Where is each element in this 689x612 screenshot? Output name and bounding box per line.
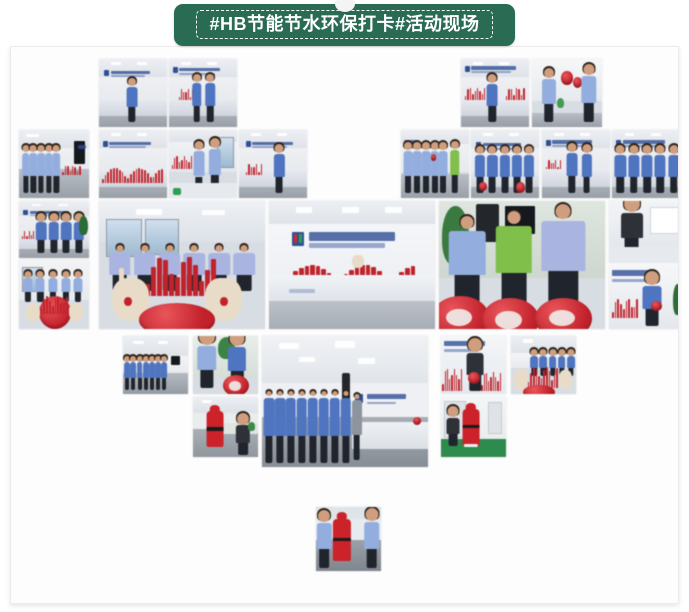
person-figure [30, 152, 38, 193]
photo-content [99, 59, 167, 127]
photo-content [169, 130, 237, 198]
person-figure [500, 154, 510, 192]
gallery-photo[interactable] [169, 59, 237, 127]
person-figure [668, 154, 679, 192]
photo-content [441, 336, 506, 394]
photo-content [99, 201, 265, 329]
person-figure [275, 396, 286, 462]
gallery-photo[interactable] [401, 130, 469, 198]
person-figure [364, 521, 380, 567]
gallery-photo[interactable] [609, 266, 679, 329]
photo-content [609, 201, 679, 263]
person-figure [74, 278, 83, 301]
person-figure [487, 83, 498, 121]
person-figure [329, 396, 340, 462]
gallery-photo[interactable] [193, 336, 258, 394]
photo-content [542, 130, 610, 198]
gallery-photo[interactable] [532, 59, 602, 127]
photo-content [609, 266, 679, 329]
person-figure [36, 222, 47, 253]
red-cup-pyramid [40, 296, 68, 314]
person-figure [274, 153, 284, 192]
title-banner-container: #HB节能节水环保打卡#活动现场 [0, 0, 689, 48]
gallery-photo[interactable] [612, 130, 679, 198]
red-cup-pyramid [246, 164, 262, 175]
person-figure [53, 152, 61, 193]
gallery-photo[interactable] [542, 130, 610, 198]
person-figure [45, 152, 53, 193]
person-figure [317, 522, 331, 567]
red-cup-pyramid [62, 165, 80, 175]
person-figure [149, 362, 155, 390]
person-figure [404, 150, 413, 192]
red-cup-pyramid [506, 88, 525, 100]
photo-content [441, 397, 506, 457]
person-figure [137, 362, 143, 390]
page-title: #HB节能节水环保打卡#活动现场 [209, 14, 479, 34]
person-figure [655, 154, 666, 192]
gallery-card [10, 46, 679, 604]
person-figure [446, 417, 459, 445]
gallery-photo[interactable] [99, 59, 167, 127]
red-cup-pyramid [546, 160, 561, 170]
gallery-photo[interactable] [239, 130, 307, 198]
photo-content [19, 260, 89, 329]
gallery-photo[interactable] [123, 336, 188, 394]
photo-content [511, 336, 576, 394]
person-figure [126, 86, 137, 121]
person-figure [566, 152, 577, 193]
person-figure [124, 362, 130, 390]
photo-content [19, 130, 89, 198]
person-figure [450, 149, 460, 193]
gallery-photo[interactable] [461, 59, 529, 127]
red-cup-pyramid [102, 168, 163, 183]
photo-content [19, 201, 89, 258]
person-figure [130, 362, 136, 390]
person-figure [48, 222, 59, 253]
person-figure [264, 396, 275, 462]
person-figure [155, 362, 161, 390]
screenshot-root: #HB节能节水环保打卡#活动现场 [0, 0, 689, 612]
red-cup-pyramid [442, 369, 462, 391]
gallery-photo[interactable] [262, 336, 428, 467]
gallery-photo[interactable] [99, 130, 167, 198]
event-photo-collage [11, 47, 678, 603]
person-figure [192, 82, 202, 121]
person-figure [286, 396, 297, 462]
title-banner: #HB节能节水环保打卡#活动现场 [174, 4, 514, 46]
person-figure [22, 152, 30, 193]
person-figure [318, 396, 329, 462]
person-figure [352, 399, 362, 459]
person-figure [495, 224, 532, 306]
gallery-photo[interactable] [441, 336, 506, 394]
photo-content [401, 130, 469, 198]
red-cup-pyramid [481, 372, 501, 391]
person-figure [206, 82, 216, 121]
person-figure [487, 154, 497, 192]
photo-content [439, 201, 605, 329]
person-figure [413, 150, 422, 192]
photo-content [239, 130, 307, 198]
gallery-photo[interactable] [471, 130, 539, 198]
person-figure [421, 150, 430, 192]
gallery-photo[interactable] [99, 201, 265, 329]
title-banner-inner-border: #HB节能节水环保打卡#活动现场 [196, 10, 492, 39]
person-figure [449, 229, 486, 306]
person-figure [307, 396, 318, 462]
red-cup-pyramid [612, 299, 638, 318]
gallery-photo[interactable] [439, 201, 605, 329]
gallery-photo[interactable] [193, 397, 258, 457]
person-figure [161, 362, 167, 390]
person-figure [542, 219, 585, 306]
person-figure [581, 153, 591, 192]
red-cup-pyramid [172, 156, 192, 170]
photo-content [123, 336, 188, 394]
photo-content [316, 507, 381, 571]
person-figure [340, 396, 351, 462]
gallery-photo[interactable] [316, 507, 381, 571]
person-figure [615, 154, 626, 192]
person-figure [581, 75, 596, 121]
photo-content [99, 130, 167, 198]
photo-content [612, 130, 679, 198]
gallery-photo[interactable] [609, 201, 679, 263]
red-cup-pyramid [465, 88, 485, 100]
gallery-photo[interactable] [269, 201, 435, 329]
red-cup-pyramid [22, 231, 35, 239]
person-figure [439, 150, 448, 192]
gallery-photo[interactable] [169, 130, 237, 198]
photo-content [461, 59, 529, 127]
photo-content [471, 130, 539, 198]
person-figure [542, 78, 556, 122]
person-figure [23, 278, 32, 301]
person-figure [61, 222, 72, 253]
person-figure [37, 152, 45, 193]
gallery-photo[interactable] [511, 336, 576, 394]
person-figure [628, 154, 639, 192]
gallery-photo[interactable] [441, 397, 506, 457]
person-figure [143, 362, 149, 390]
photo-content [262, 336, 428, 467]
gallery-photo[interactable] [19, 201, 89, 258]
gallery-photo[interactable] [19, 130, 89, 198]
photo-content [193, 336, 258, 394]
person-figure [297, 396, 308, 462]
gallery-photo[interactable] [19, 260, 89, 329]
photo-content [532, 59, 602, 127]
photo-content [269, 201, 435, 329]
photo-content [169, 59, 237, 127]
person-figure [524, 154, 534, 192]
photo-content [193, 397, 258, 457]
person-figure [197, 345, 217, 387]
person-figure [641, 154, 652, 192]
